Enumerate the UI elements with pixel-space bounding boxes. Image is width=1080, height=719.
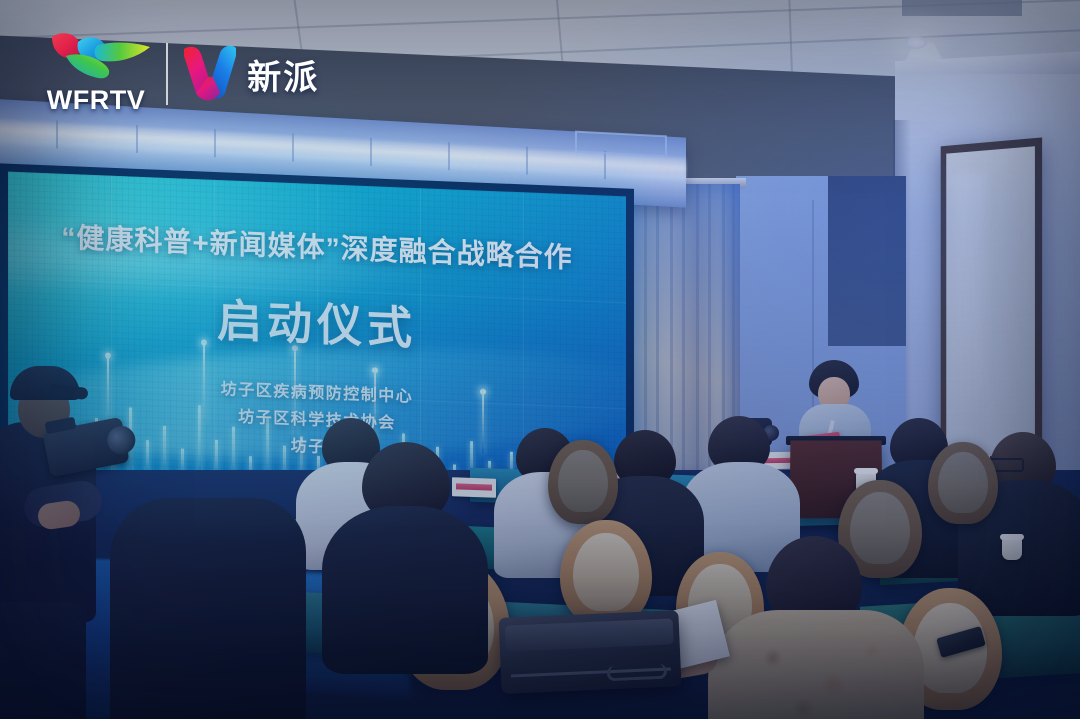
audience-dark-hair-row1-front	[330, 442, 480, 652]
led-headline: “健康科普+新闻媒体”深度融合战略合作	[8, 214, 626, 279]
teacup-lid	[854, 468, 878, 474]
audience-woman-floral-foreground	[700, 536, 920, 719]
white-lidded-teacup	[1002, 538, 1022, 560]
banquet-chair[interactable]	[928, 442, 998, 524]
audience-torso	[110, 498, 306, 719]
banquet-chair[interactable]	[548, 440, 618, 524]
ceiling-air-vent	[902, 0, 1022, 16]
conference-hall-photo: “健康科普+新闻媒体”深度融合战略合作 启动仪式 坊子区疾病预防控制中心 坊子区…	[0, 0, 1080, 719]
wfrtv-ribbon-logo-icon	[42, 30, 154, 82]
dark-grey-laptop-briefcase	[498, 610, 681, 694]
broadcaster-abbr: WFRTV	[36, 85, 156, 116]
xinpai-v-logo-icon	[180, 43, 240, 105]
banquet-chair[interactable]	[560, 520, 652, 626]
door-highlight	[954, 172, 986, 421]
chair-back-panel	[938, 452, 988, 513]
vertical-divider-icon	[166, 43, 168, 105]
audience-dark-foreground-left	[110, 478, 300, 719]
bag-handle	[607, 664, 668, 682]
recessed-ceiling-spotlight	[905, 36, 927, 49]
xinpai-logo: 新派	[180, 38, 328, 110]
broadcaster-watermark: WFRTV 新派	[36, 28, 328, 120]
chair-back-panel	[558, 450, 608, 512]
teacup-lid	[1000, 534, 1024, 540]
cameraman-legs	[0, 602, 86, 719]
sub-brand-label: 新派	[247, 50, 319, 99]
cameraman-filming	[0, 352, 102, 682]
audience-torso	[322, 506, 488, 674]
dark-wall-pillar	[828, 176, 906, 346]
bag-flap	[505, 618, 674, 651]
floral-patterned-top	[708, 610, 924, 719]
audience-light-blue-shirt-row1	[690, 416, 800, 556]
chair-back-panel	[573, 533, 639, 611]
wfrtv-logo: WFRTV	[36, 28, 154, 120]
